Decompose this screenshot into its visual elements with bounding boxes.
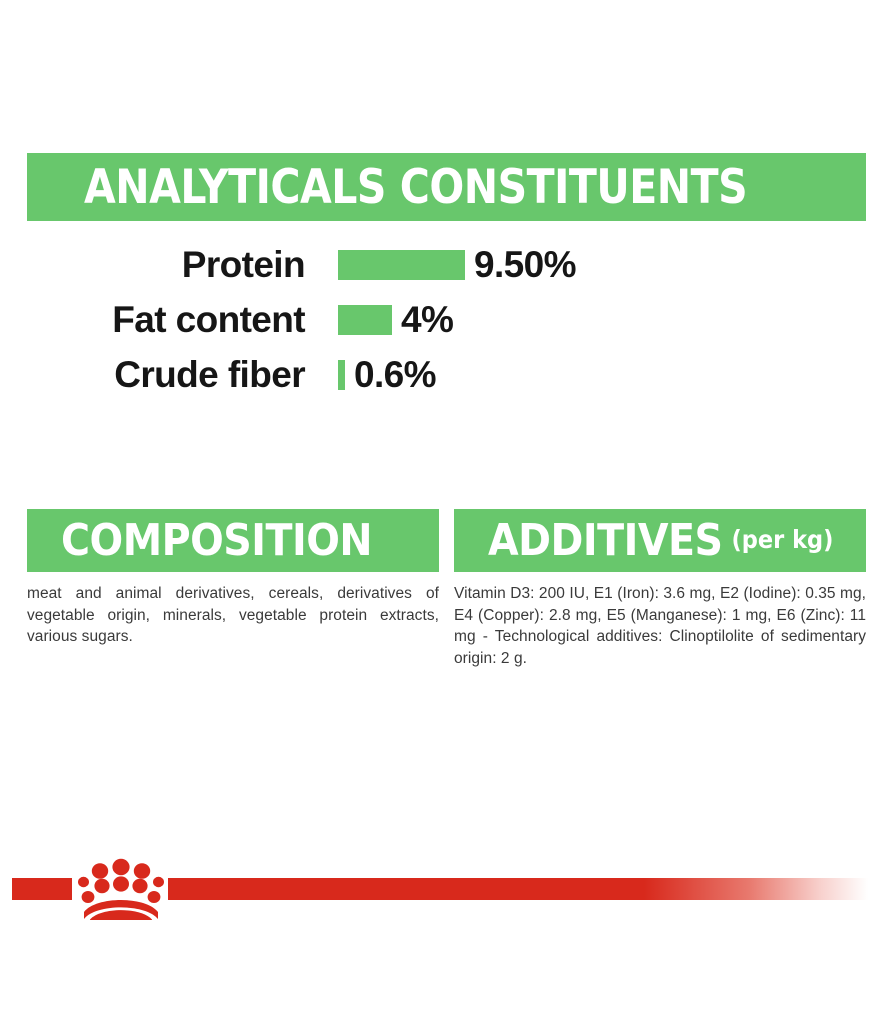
analytical-row-crude-fiber: Crude fiber 0.6% [0,353,893,408]
info-panels: COMPOSITION meat and animal derivatives,… [27,509,866,669]
analytical-label-protein: Protein [182,243,305,287]
product-nutrition-panel: ANALYTICALS CONSTITUENTS Protein 9.50% F… [0,0,893,1033]
analytical-value-protein: 9.50% [474,250,576,280]
analytical-bar-fat-content [338,305,392,335]
additives-body-text: Vitamin D3: 200 IU, E1 (Iron): 3.6 mg, E… [454,583,866,669]
analyticals-banner-title: ANALYTICALS CONSTITUENTS [84,164,747,211]
analyticals-banner: ANALYTICALS CONSTITUENTS [27,153,866,221]
footer-band-left-segment [12,878,72,900]
additives-panel: ADDITIVES (per kg) Vitamin D3: 200 IU, E… [454,509,866,669]
analytical-bar-protein [338,250,465,280]
analytical-value-crude-fiber: 0.6% [354,360,436,390]
composition-panel: COMPOSITION meat and animal derivatives,… [27,509,439,669]
composition-title: COMPOSITION [61,519,372,563]
analytical-row-protein: Protein 9.50% [0,243,893,298]
analytical-bar-group-protein: 9.50% [338,250,576,280]
analytical-bar-group-crude-fiber: 0.6% [338,360,436,390]
additives-subtitle: (per kg) [732,527,834,554]
additives-header: ADDITIVES (per kg) [454,509,866,572]
crown-icon [78,858,164,920]
analyticals-chart: Protein 9.50% Fat content 4% Crude fiber… [0,243,893,408]
additives-title: ADDITIVES [488,519,723,563]
composition-body-text: meat and animal derivatives, cereals, de… [27,583,439,648]
analytical-row-fat-content: Fat content 4% [0,298,893,353]
analytical-value-fat-content: 4% [401,305,453,335]
analytical-label-fat-content: Fat content [112,298,305,342]
analytical-label-crude-fiber: Crude fiber [114,353,305,397]
composition-header: COMPOSITION [27,509,439,572]
footer-band-right-segment [168,878,868,900]
analytical-bar-group-fat-content: 4% [338,305,453,335]
analytical-bar-crude-fiber [338,360,345,390]
